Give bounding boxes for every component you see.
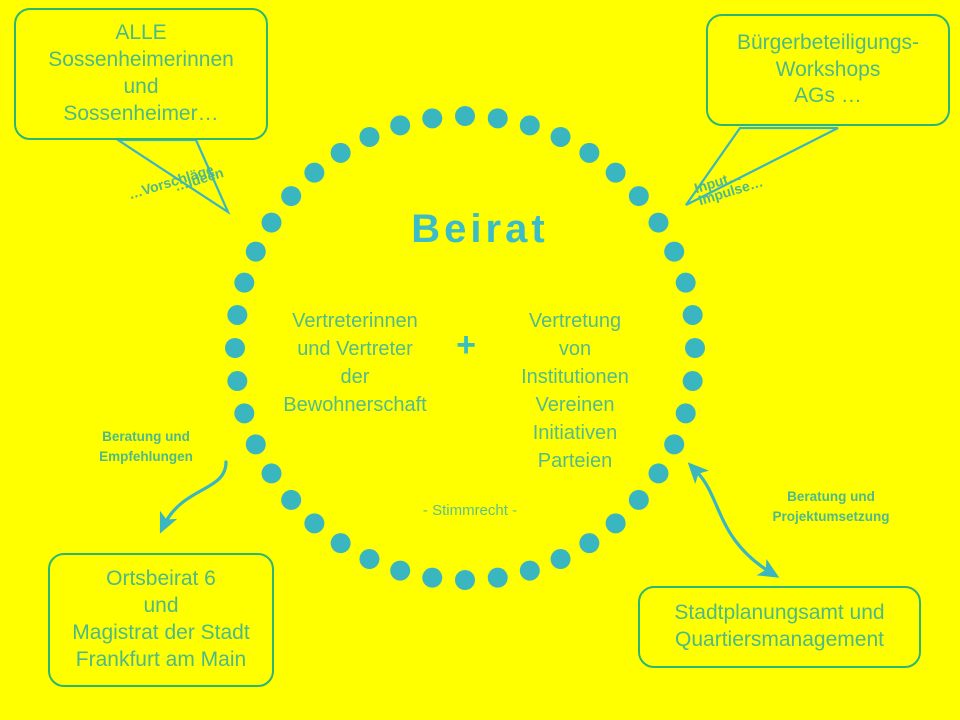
diagram-canvas: ALLESossenheimerinnenundSossenheimer… Bü…: [0, 0, 960, 720]
circle-dot: [304, 513, 324, 533]
circle-dot: [262, 463, 282, 483]
circle-dot: [262, 213, 282, 233]
voting-rights-note: - Stimmrecht -: [385, 500, 555, 521]
circle-dot: [606, 163, 626, 183]
circle-dot: [664, 242, 684, 262]
box-ortsbeirat-magistrat-text: Ortsbeirat 6undMagistrat der StadtFrankf…: [50, 566, 272, 674]
circle-dot: [281, 490, 301, 510]
bubble-all-citizens-text: ALLESossenheimerinnenundSossenheimer…: [16, 20, 266, 128]
circle-dot: [488, 108, 508, 128]
circle-dot: [331, 143, 351, 163]
bubble-participation-workshops[interactable]: Bürgerbeteiligungs-WorkshopsAGs …: [706, 14, 950, 126]
circle-dot: [629, 490, 649, 510]
column-institution-representatives: VertretungvonInstitutionenVereinenInitia…: [482, 307, 668, 475]
circle-dot: [422, 568, 442, 588]
bubble-participation-workshops-text: Bürgerbeteiligungs-WorkshopsAGs …: [708, 30, 948, 111]
circle-dot: [551, 549, 571, 569]
bubble-all-citizens[interactable]: ALLESossenheimerinnenundSossenheimer…: [14, 8, 268, 140]
circle-dot: [520, 115, 540, 135]
circle-dot: [234, 273, 254, 293]
page-title-beirat: Beirat: [330, 201, 630, 257]
circle-dot: [227, 305, 247, 325]
annotation-vorschlaege: …Vorschläge: [126, 160, 216, 204]
circle-dot: [676, 403, 696, 423]
circle-dot: [551, 127, 571, 147]
circle-dot: [683, 371, 703, 391]
circle-dot: [579, 533, 599, 553]
circle-dot: [331, 533, 351, 553]
column-residents-representatives: Vertreterinnenund VertreterderBewohnersc…: [262, 307, 448, 419]
circle-dot: [579, 143, 599, 163]
annotation-beratung-empfehlungen: Beratung undEmpfehlungen: [72, 427, 220, 466]
circle-dot: [520, 561, 540, 581]
circle-dot: [246, 242, 266, 262]
circle-dot: [488, 568, 508, 588]
circle-dot: [629, 186, 649, 206]
circle-dot: [390, 561, 410, 581]
circle-dot: [676, 273, 696, 293]
circle-dot: [225, 338, 245, 358]
arrow-beratung-empfehlungen: [163, 462, 226, 527]
box-ortsbeirat-magistrat[interactable]: Ortsbeirat 6undMagistrat der StadtFrankf…: [48, 553, 274, 687]
circle-dot: [422, 108, 442, 128]
circle-dot: [606, 513, 626, 533]
circle-dot: [359, 549, 379, 569]
circle-dot: [227, 371, 247, 391]
circle-dot: [390, 115, 410, 135]
circle-dot: [648, 213, 668, 233]
circle-dot: [359, 127, 379, 147]
circle-dot: [234, 403, 254, 423]
circle-dot: [281, 186, 301, 206]
box-stadtplanungsamt-quartiersmanagement-text: Stadtplanungsamt undQuartiersmanagement: [640, 600, 919, 654]
circle-dot: [455, 106, 475, 126]
circle-dot: [304, 163, 324, 183]
plus-icon: +: [448, 328, 484, 362]
circle-dot: [683, 305, 703, 325]
circle-dot: [246, 434, 266, 454]
circle-dot: [455, 570, 475, 590]
annotation-beratung-projektumsetzung: Beratung undProjektumsetzung: [746, 487, 916, 526]
box-stadtplanungsamt-quartiersmanagement[interactable]: Stadtplanungsamt undQuartiersmanagement: [638, 586, 921, 668]
circle-dot: [685, 338, 705, 358]
